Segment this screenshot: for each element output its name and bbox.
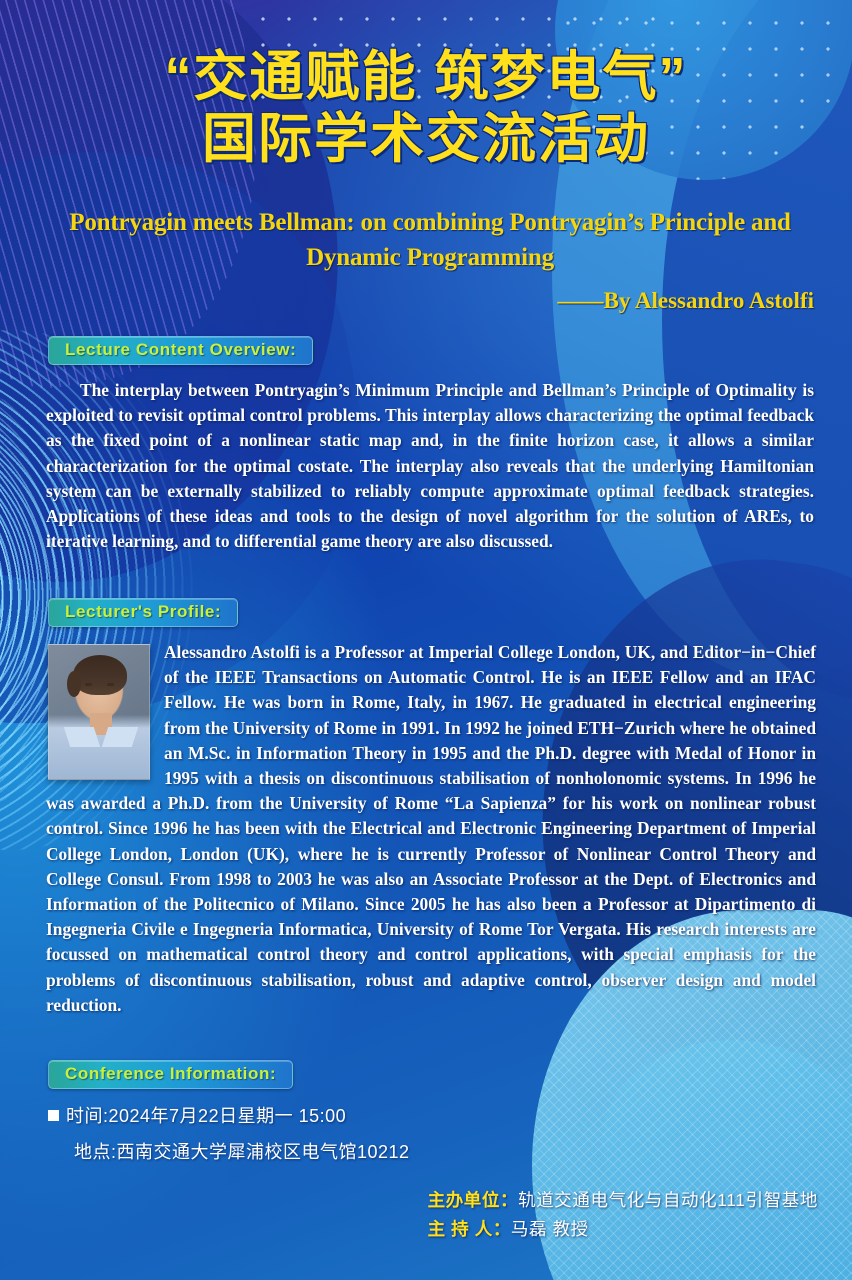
section-badge-conference-information: Conference Information: [48, 1060, 293, 1089]
lecturer-profile-text: Alessandro Astolfi is a Professor at Imp… [46, 642, 816, 1015]
square-bullet-icon [48, 1110, 59, 1121]
footer-host-row: 主 持 人：马磊 教授 [428, 1215, 818, 1244]
footer-organizer-value: 轨道交通电气化与自动化111引智基地 [518, 1190, 818, 1210]
poster-byline: ——By Alessandro Astolfi [558, 288, 814, 314]
poster-footer: 主办单位：轨道交通电气化与自动化111引智基地 主 持 人：马磊 教授 [428, 1186, 818, 1244]
poster-title-chinese: “交通赋能 筑梦电气” 国际学术交流活动 [0, 46, 852, 170]
conference-information-lines: 时间:2024年7月22日星期一 15:00 地点:西南交通大学犀浦校区电气馆1… [48, 1098, 410, 1170]
section-badge-lecturer-profile: Lecturer's Profile: [48, 598, 238, 627]
conference-time-row: 时间:2024年7月22日星期一 15:00 [48, 1098, 410, 1134]
portrait-eye-left [85, 683, 92, 686]
conference-place-text: 地点:西南交通大学犀浦校区电气馆10212 [74, 1142, 410, 1162]
footer-host-label: 主 持 人： [428, 1219, 511, 1239]
conference-place-row: 地点:西南交通大学犀浦校区电气馆10212 [48, 1134, 410, 1170]
portrait-collar-right [102, 727, 138, 747]
poster-subtitle-english: Pontryagin meets Bellman: on combining P… [46, 205, 814, 275]
lecturer-profile-block: Alessandro Astolfi is a Professor at Imp… [46, 640, 816, 1018]
title-line-2: 国际学术交流活动 [0, 108, 852, 170]
portrait-eye-right [107, 683, 114, 686]
lecture-overview-text: The interplay between Pontryagin’s Minim… [46, 378, 814, 554]
portrait-collar-left [64, 727, 100, 747]
title-line-1: “交通赋能 筑梦电气” [164, 47, 687, 107]
poster-root: “交通赋能 筑梦电气” 国际学术交流活动 Pontryagin meets Be… [0, 0, 852, 1280]
section-badge-lecture-overview: Lecture Content Overview: [48, 336, 313, 365]
footer-organizer-label: 主办单位： [428, 1190, 519, 1210]
portrait-hair [73, 655, 127, 695]
footer-host-value: 马磊 教授 [511, 1219, 589, 1239]
speaker-portrait-photo [48, 644, 150, 780]
conference-time-text: 时间:2024年7月22日星期一 15:00 [66, 1106, 346, 1126]
footer-organizer-row: 主办单位：轨道交通电气化与自动化111引智基地 [428, 1186, 818, 1215]
